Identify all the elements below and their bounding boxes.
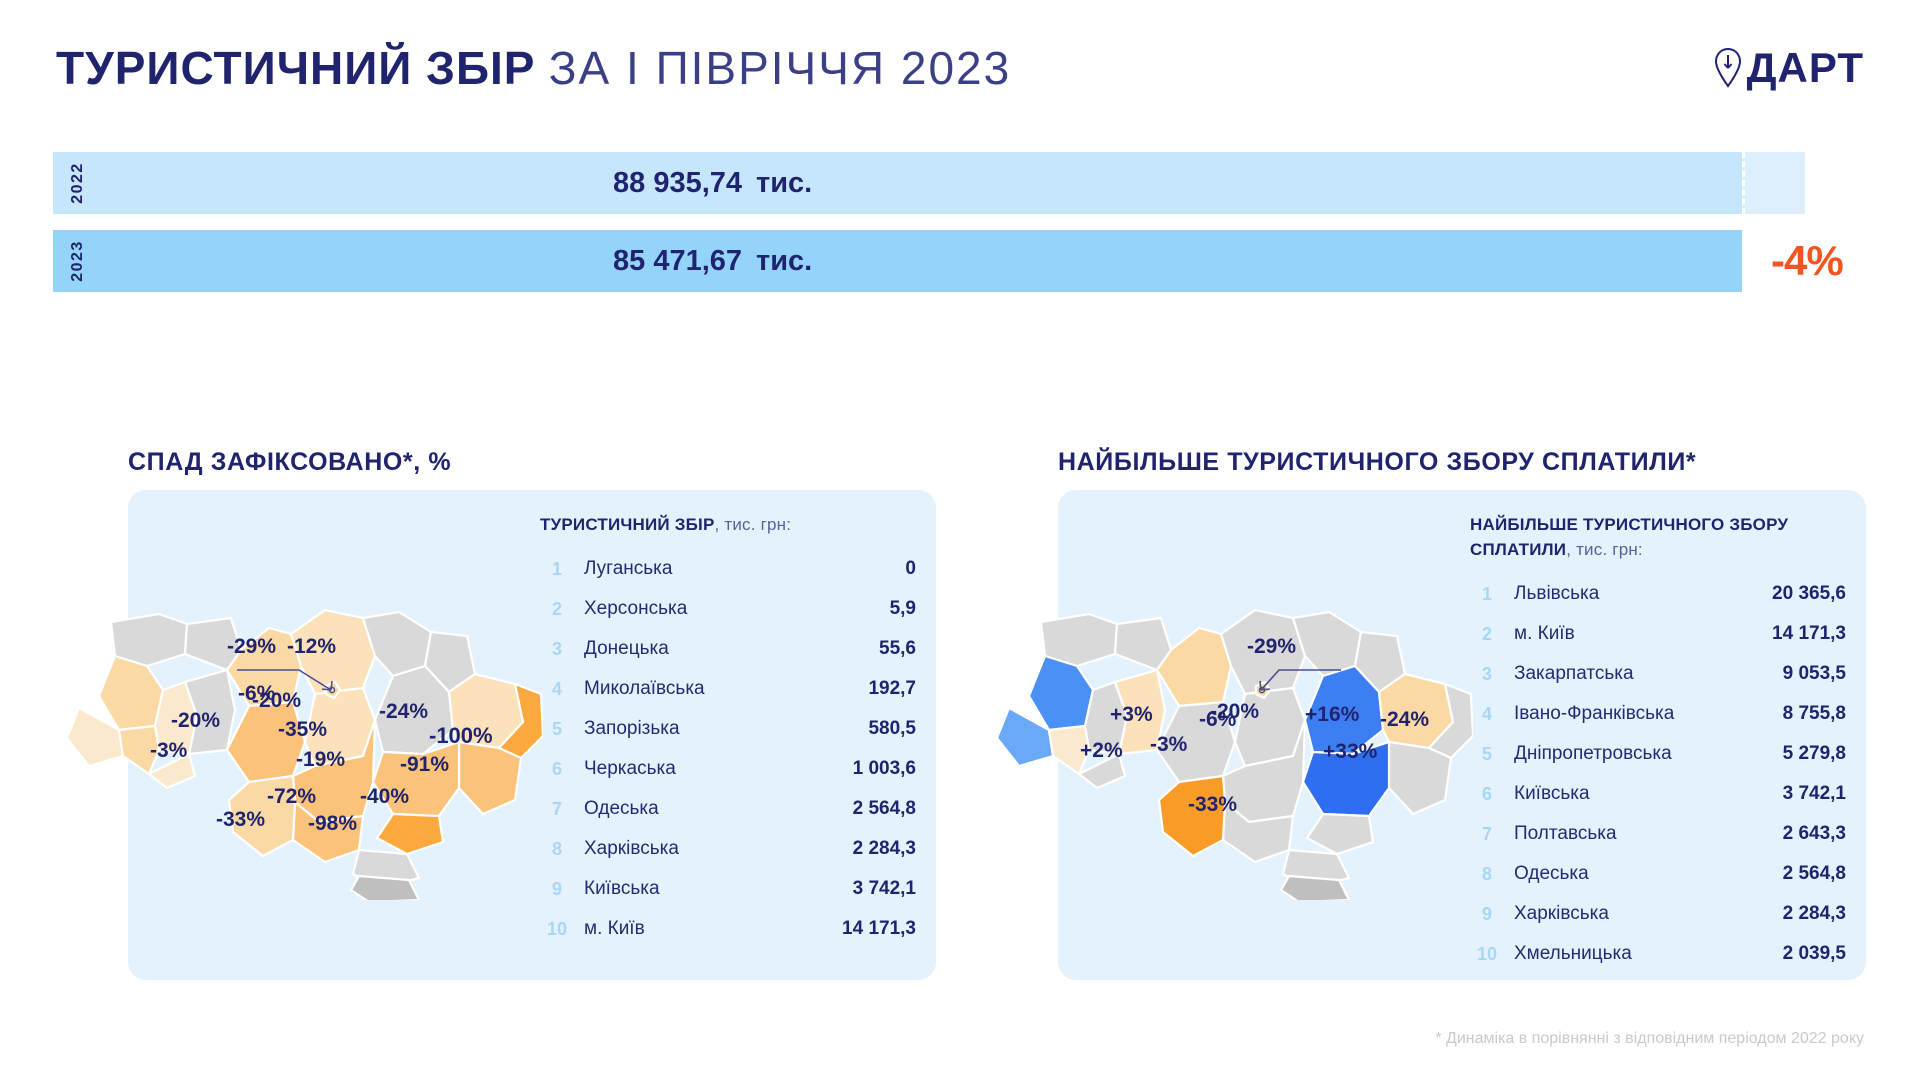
list-rank: 7	[540, 799, 574, 820]
bar-value-number-2023: 85 471,67	[613, 245, 742, 278]
map-label-left-9: -100%	[429, 723, 493, 749]
list-rank: 4	[540, 679, 574, 700]
list-region-name: Хмельницька	[1504, 943, 1783, 965]
map-label-left-12: -40%	[360, 785, 409, 809]
bar-ghost-2022	[1742, 152, 1805, 214]
map-label-left-5: -20%	[252, 689, 301, 713]
list-value: 5 279,8	[1783, 743, 1850, 765]
delta-badge: -4%	[1771, 230, 1843, 292]
list-value: 8 755,8	[1783, 703, 1850, 725]
list-rank: 9	[1470, 904, 1504, 925]
list-region-name: Донецька	[574, 638, 879, 660]
list-rank: 4	[1470, 704, 1504, 725]
map-label-left-0: -3%	[150, 739, 187, 763]
map-label-left-14: -98%	[308, 812, 357, 836]
right-list-heading-light: , тис. грн:	[1566, 540, 1643, 559]
left-ranking-list: ТУРИСТИЧНИЙ ЗБІР, тис. грн: 1 Луганська …	[540, 512, 920, 949]
title-bold: ТУРИСТИЧНИЙ ЗБІР	[56, 42, 535, 94]
list-region-name: Харківська	[574, 838, 853, 860]
list-rank: 8	[540, 839, 574, 860]
map-label-left-10: -91%	[400, 753, 449, 777]
map-label-right-4: -29%	[1247, 635, 1296, 659]
map-label-left-3: -29%	[227, 635, 276, 659]
list-value: 0	[905, 558, 920, 580]
right-panel: +2% +3% -3% -6% -29% -20% +16% -24% +33%…	[1058, 490, 1866, 980]
list-value: 55,6	[879, 638, 920, 660]
bar-value-unit-2023: тис.	[756, 245, 812, 278]
bar-year-text-2023: 2023	[69, 240, 87, 282]
list-item[interactable]: 3 Донецька 55,6	[540, 629, 920, 669]
list-region-name: м. Київ	[1504, 623, 1772, 645]
list-item[interactable]: 10 м. Київ 14 171,3	[540, 909, 920, 949]
list-rank: 6	[1470, 784, 1504, 805]
ukraine-map-decline: -3% -20% -6% -29% -12% -20% -35% -19% -2…	[128, 490, 558, 980]
map-label-left-4: -12%	[287, 635, 336, 659]
list-rank: 6	[540, 759, 574, 780]
right-list-heading: НАЙБІЛЬШЕ ТУРИСТИЧНОГО ЗБОРУ СПЛАТИЛИ, т…	[1470, 512, 1850, 562]
list-region-name: Миколаївська	[574, 678, 868, 700]
bar-value-unit-2022: тис.	[756, 167, 812, 200]
page-title: ТУРИСТИЧНИЙ ЗБІР ЗА I ПІВРІЧЧЯ 2023	[56, 40, 1011, 96]
list-item[interactable]: 4 Миколаївська 192,7	[540, 669, 920, 709]
list-rank: 5	[540, 719, 574, 740]
list-item[interactable]: 6 Київська 3 742,1	[1470, 774, 1850, 814]
list-value: 5,9	[890, 598, 920, 620]
list-rank: 1	[540, 559, 574, 580]
list-value: 3 742,1	[1783, 783, 1850, 805]
location-pin-icon	[1715, 48, 1741, 88]
list-item[interactable]: 10 Хмельницька 2 039,5	[1470, 934, 1850, 974]
list-rank: 1	[1470, 584, 1504, 605]
list-item[interactable]: 7 Полтавська 2 643,3	[1470, 814, 1850, 854]
map-label-left-13: -33%	[216, 808, 265, 832]
list-item[interactable]: 8 Харківська 2 284,3	[540, 829, 920, 869]
ukraine-map-svg-right	[993, 570, 1473, 900]
map-label-right-8: +33%	[1323, 740, 1377, 764]
list-item[interactable]: 2 м. Київ 14 171,3	[1470, 614, 1850, 654]
left-list-heading-bold: ТУРИСТИЧНИЙ ЗБІР	[540, 515, 715, 534]
list-item[interactable]: 7 Одеська 2 564,8	[540, 789, 920, 829]
logo-text: ДАРТ	[1747, 47, 1864, 89]
list-rank: 8	[1470, 864, 1504, 885]
map-label-left-11: -72%	[267, 785, 316, 809]
bar-year-text-2022: 2022	[69, 162, 87, 204]
footnote: * Динаміка в порівнянні з відповідним пе…	[1435, 1030, 1864, 1048]
list-item[interactable]: 2 Херсонська 5,9	[540, 589, 920, 629]
bar-fill-2023	[53, 230, 1742, 292]
list-region-name: Київська	[574, 878, 853, 900]
list-region-name: м. Київ	[574, 918, 842, 940]
map-label-right-7: -24%	[1380, 708, 1429, 732]
page-header: ТУРИСТИЧНИЙ ЗБІР ЗА I ПІВРІЧЧЯ 2023 ДАРТ	[0, 0, 1920, 140]
left-panel: -3% -20% -6% -29% -12% -20% -35% -19% -2…	[128, 490, 936, 980]
list-region-name: Київська	[1504, 783, 1783, 805]
list-value: 14 171,3	[1772, 623, 1850, 645]
map-label-left-1: -20%	[171, 709, 220, 733]
list-item[interactable]: 1 Луганська 0	[540, 549, 920, 589]
bar-year-label-2022: 2022	[63, 152, 93, 214]
bar-dashed-divider	[1742, 152, 1745, 214]
left-list-heading: ТУРИСТИЧНИЙ ЗБІР, тис. грн:	[540, 512, 920, 537]
bar-value-2022: 88 935,74 тис.	[613, 152, 812, 214]
list-value: 580,5	[868, 718, 920, 740]
list-item[interactable]: 9 Харківська 2 284,3	[1470, 894, 1850, 934]
list-region-name: Харківська	[1504, 903, 1783, 925]
list-value: 2 564,8	[853, 798, 920, 820]
right-ranking-list: НАЙБІЛЬШЕ ТУРИСТИЧНОГО ЗБОРУ СПЛАТИЛИ, т…	[1470, 512, 1850, 974]
left-list-heading-light: , тис. грн:	[715, 515, 792, 534]
list-rank: 2	[540, 599, 574, 620]
list-value: 20 365,6	[1772, 583, 1850, 605]
list-rank: 2	[1470, 624, 1504, 645]
ukraine-map-top-payers: +2% +3% -3% -6% -29% -20% +16% -24% +33%…	[1058, 490, 1488, 980]
list-value: 2 039,5	[1783, 943, 1850, 965]
list-item[interactable]: 1 Львівська 20 365,6	[1470, 574, 1850, 614]
list-region-name: Одеська	[1504, 863, 1783, 885]
map-label-right-6: +16%	[1305, 703, 1359, 727]
dart-logo: ДАРТ	[1715, 40, 1864, 96]
list-value: 3 742,1	[853, 878, 920, 900]
map-label-right-2: -3%	[1150, 733, 1187, 757]
left-section-title: СПАД ЗАФІКСОВАНО*, %	[128, 448, 451, 477]
list-value: 2 643,3	[1783, 823, 1850, 845]
map-label-right-5: -20%	[1210, 700, 1259, 724]
list-value: 14 171,3	[842, 918, 920, 940]
list-value: 1 003,6	[853, 758, 920, 780]
map-label-right-9: -33%	[1188, 793, 1237, 817]
map-label-left-8: -24%	[379, 700, 428, 724]
list-value: 2 564,8	[1783, 863, 1850, 885]
list-value: 9 053,5	[1783, 663, 1850, 685]
list-item[interactable]: 3 Закарпатська 9 053,5	[1470, 654, 1850, 694]
map-label-right-0: +2%	[1080, 739, 1123, 763]
list-item[interactable]: 4 Івано-Франківська 8 755,8	[1470, 694, 1850, 734]
bar-fill-2022	[53, 152, 1742, 214]
list-region-name: Дніпропетровська	[1504, 743, 1783, 765]
list-rank: 7	[1470, 824, 1504, 845]
list-value: 2 284,3	[853, 838, 920, 860]
list-item[interactable]: 9 Київська 3 742,1	[540, 869, 920, 909]
summary-bar-chart: 2022 88 935,74 тис. 2023 85 471,67 тис. …	[53, 152, 1865, 292]
title-light: ЗА I ПІВРІЧЧЯ 2023	[549, 42, 1011, 94]
list-item[interactable]: 5 Дніпропетровська 5 279,8	[1470, 734, 1850, 774]
list-value: 192,7	[868, 678, 920, 700]
bar-value-number-2022: 88 935,74	[613, 167, 742, 200]
list-region-name: Луганська	[574, 558, 905, 580]
list-region-name: Івано-Франківська	[1504, 703, 1783, 725]
list-rank: 10	[1470, 944, 1504, 965]
bar-year-label-2023: 2023	[63, 230, 93, 292]
list-region-name: Полтавська	[1504, 823, 1783, 845]
list-rank: 10	[540, 919, 574, 940]
list-region-name: Запорізька	[574, 718, 868, 740]
map-label-left-6: -35%	[278, 718, 327, 742]
list-value: 2 284,3	[1783, 903, 1850, 925]
map-label-left-7: -19%	[296, 748, 345, 772]
list-rank: 3	[540, 639, 574, 660]
list-region-name: Одеська	[574, 798, 853, 820]
list-region-name: Закарпатська	[1504, 663, 1783, 685]
list-item[interactable]: 5 Запорізька 580,5	[540, 709, 920, 749]
list-rank: 3	[1470, 664, 1504, 685]
right-section-title: НАЙБІЛЬШЕ ТУРИСТИЧНОГО ЗБОРУ СПЛАТИЛИ*	[1058, 448, 1696, 477]
list-region-name: Херсонська	[574, 598, 890, 620]
list-rank: 5	[1470, 744, 1504, 765]
list-region-name: Львівська	[1504, 583, 1772, 605]
list-region-name: Черкаська	[574, 758, 853, 780]
bar-value-2023: 85 471,67 тис.	[613, 230, 812, 292]
list-rank: 9	[540, 879, 574, 900]
map-label-right-1: +3%	[1110, 703, 1153, 727]
list-item[interactable]: 6 Черкаська 1 003,6	[540, 749, 920, 789]
list-item[interactable]: 8 Одеська 2 564,8	[1470, 854, 1850, 894]
